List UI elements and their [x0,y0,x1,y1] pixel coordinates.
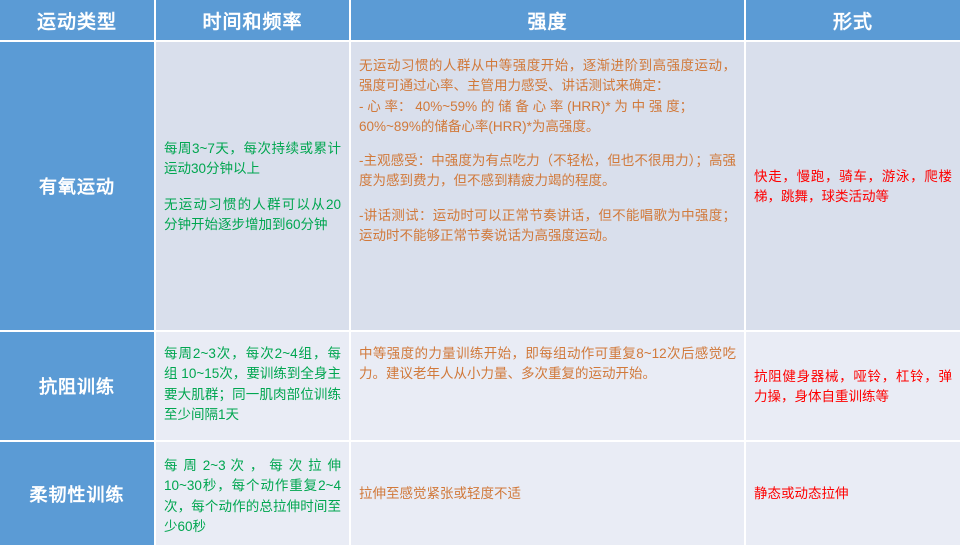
table-sheet: 医 院 运动类型 时间和频率 强度 形式 有氧运动 每周3~7天，每次持续或累计… [0,0,960,535]
column-header-frequency: 时间和频率 [155,0,350,41]
exercise-type-flexibility: 柔韧性训练 [0,441,155,546]
frequency-line: 无运动习惯的人群可以从20分钟开始逐步增加到60分钟 [164,195,341,236]
table-header-row: 运动类型 时间和频率 强度 形式 [0,0,960,41]
table-row: 柔韧性训练 每 周 2~3 次 ， 每 次 拉 伸 10~30秒，每个动作重复2… [0,441,960,546]
intensity-cell-resistance: 中等强度的力量训练开始，即每组动作可重复8~12次后感觉吃力。建议老年人从小力量… [350,331,745,441]
frequency-line: 每周2~3次，每次2~4组，每组 10~15次，要训练到全身主要大肌群；同一肌肉… [164,344,341,425]
intensity-line-heart-rate: - 心 率： 40%~59% 的 储 备 心 率 (HRR)* 为 中 强 度；… [359,97,736,138]
intensity-line: 无运动习惯的人群从中等强度开始，逐渐进阶到高强度运动，强度可通过心率、主管用力感… [359,56,736,97]
column-header-intensity: 强度 [350,0,745,41]
table-row: 有氧运动 每周3~7天，每次持续或累计运动30分钟以上 无运动习惯的人群可以从2… [0,41,960,331]
form-cell-flexibility: 静态或动态拉伸 [745,441,960,546]
intensity-cell-flexibility: 拉伸至感觉紧张或轻度不适 [350,441,745,546]
form-line: 快走，慢跑，骑车，游泳，爬楼梯，跳舞，球类活动等 [754,167,952,208]
intensity-line-talk-test: -讲话测试：运动时可以正常节奏讲话，但不能唱歌为中强度；运动时不能够正常节奏说话… [359,206,736,247]
column-header-type: 运动类型 [0,0,155,41]
intensity-line-perceived-exertion: -主观感受：中强度为有点吃力（不轻松，但也不很用力）；高强度为感到费力，但不感到… [359,151,736,192]
intensity-line: 中等强度的力量训练开始，即每组动作可重复8~12次后感觉吃力。建议老年人从小力量… [359,344,736,385]
frequency-cell-resistance: 每周2~3次，每次2~4组，每组 10~15次，要训练到全身主要大肌群；同一肌肉… [155,331,350,441]
frequency-cell-flexibility: 每 周 2~3 次 ， 每 次 拉 伸 10~30秒，每个动作重复2~4次，每个… [155,441,350,546]
form-cell-aerobic: 快走，慢跑，骑车，游泳，爬楼梯，跳舞，球类活动等 [745,41,960,331]
column-header-form: 形式 [745,0,960,41]
frequency-line: 每 周 2~3 次 ， 每 次 拉 伸 10~30秒，每个动作重复2~4次，每个… [164,456,341,537]
form-cell-resistance: 抗阻健身器械，哑铃，杠铃，弹力操，身体自重训练等 [745,331,960,441]
form-line: 静态或动态拉伸 [754,484,952,504]
exercise-type-resistance: 抗阻训练 [0,331,155,441]
intensity-line: 拉伸至感觉紧张或轻度不适 [359,484,736,504]
table-row: 抗阻训练 每周2~3次，每次2~4组，每组 10~15次，要训练到全身主要大肌群… [0,331,960,441]
intensity-cell-aerobic: 无运动习惯的人群从中等强度开始，逐渐进阶到高强度运动，强度可通过心率、主管用力感… [350,41,745,331]
exercise-type-aerobic: 有氧运动 [0,41,155,331]
form-line: 抗阻健身器械，哑铃，杠铃，弹力操，身体自重训练等 [754,367,952,408]
frequency-cell-aerobic: 每周3~7天，每次持续或累计运动30分钟以上 无运动习惯的人群可以从20分钟开始… [155,41,350,331]
exercise-prescription-table: 运动类型 时间和频率 强度 形式 有氧运动 每周3~7天，每次持续或累计运动30… [0,0,960,547]
frequency-line: 每周3~7天，每次持续或累计运动30分钟以上 [164,139,341,180]
